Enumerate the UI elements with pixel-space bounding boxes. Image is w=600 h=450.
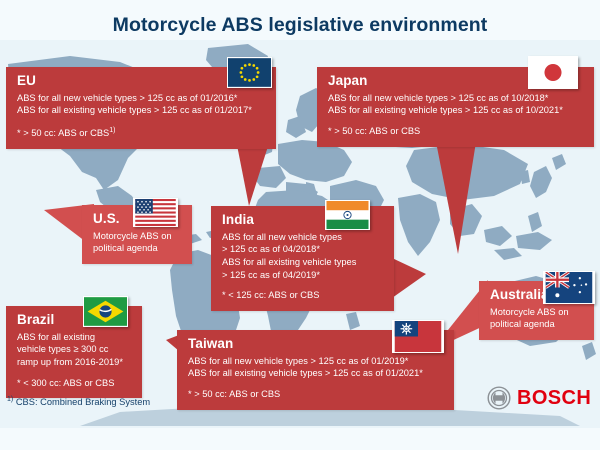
callout-eu-line-2: ABS for all existing vehicle types > 125…	[17, 104, 266, 117]
infographic-canvas: Motorcycle ABS legislative environment E…	[0, 0, 600, 450]
callout-us-line-2: political agenda	[93, 242, 182, 255]
callout-taiwan-line-2: ABS for all existing vehicle types > 125…	[188, 367, 444, 380]
callout-eu-footnote-sup: 1)	[109, 127, 115, 134]
eu-callout-tail	[236, 140, 276, 210]
japan-flag-icon	[528, 56, 578, 89]
callout-australia-line-1: Motorcycle ABS on	[490, 306, 584, 319]
callout-australia-line-2: political agenda	[490, 318, 584, 331]
japan-callout-tail	[436, 142, 486, 258]
bosch-armature-icon	[487, 386, 511, 410]
callout-brazil-line-3: ramp up from 2016-2019*	[17, 356, 132, 369]
callout-taiwan-line-1: ABS for all new vehicle types > 125 cc a…	[188, 355, 444, 368]
callout-brazil-footnote: * < 300 cc: ABS or CBS	[17, 377, 132, 390]
callout-india-line-4: > 125 cc as of 04/2019*	[222, 269, 384, 282]
callout-eu-footnote: * > 50 cc: ABS or CBS1)	[17, 125, 266, 140]
footnote: 1) CBS: Combined Braking System	[7, 396, 150, 407]
callout-taiwan-footnote: * > 50 cc: ABS or CBS	[188, 388, 444, 401]
taiwan-flag-icon	[392, 320, 444, 353]
brazil-flag-icon	[83, 296, 128, 327]
eu-flag-icon	[227, 57, 272, 88]
callout-india-line-3: ABS for all existing vehicle types	[222, 256, 384, 269]
callout-japan-line-1: ABS for all new vehicle types > 125 cc a…	[328, 92, 584, 105]
callout-japan-line-2: ABS for all existing vehicle types > 125…	[328, 104, 584, 117]
india-flag-icon	[325, 200, 370, 230]
footnote-sup: 1)	[7, 396, 13, 403]
callout-brazil-line-1: ABS for all existing	[17, 331, 132, 344]
bosch-logo: BOSCH	[487, 386, 591, 410]
callout-brazil-line-2: vehicle types ≥ 300 cc	[17, 343, 132, 356]
callout-eu-line-1: ABS for all new vehicle types > 125 cc a…	[17, 92, 266, 105]
callout-india-line-1: ABS for all new vehicle types	[222, 231, 384, 244]
callout-eu-footnote-text: * > 50 cc: ABS or CBS	[17, 128, 109, 138]
bosch-wordmark: BOSCH	[517, 388, 591, 408]
callout-india-line-2: > 125 cc as of 04/2018*	[222, 243, 384, 256]
footnote-text: CBS: Combined Braking System	[16, 397, 150, 407]
callout-india-footnote: * < 125 cc: ABS or CBS	[222, 289, 384, 302]
page-title: Motorcycle ABS legislative environment	[0, 14, 600, 37]
callout-us-line-1: Motorcycle ABS on	[93, 230, 182, 243]
callout-japan-footnote: * > 50 cc: ABS or CBS	[328, 125, 584, 138]
india-callout-tail	[392, 258, 428, 304]
australia-flag-icon	[543, 271, 595, 304]
us-flag-icon	[133, 198, 178, 227]
